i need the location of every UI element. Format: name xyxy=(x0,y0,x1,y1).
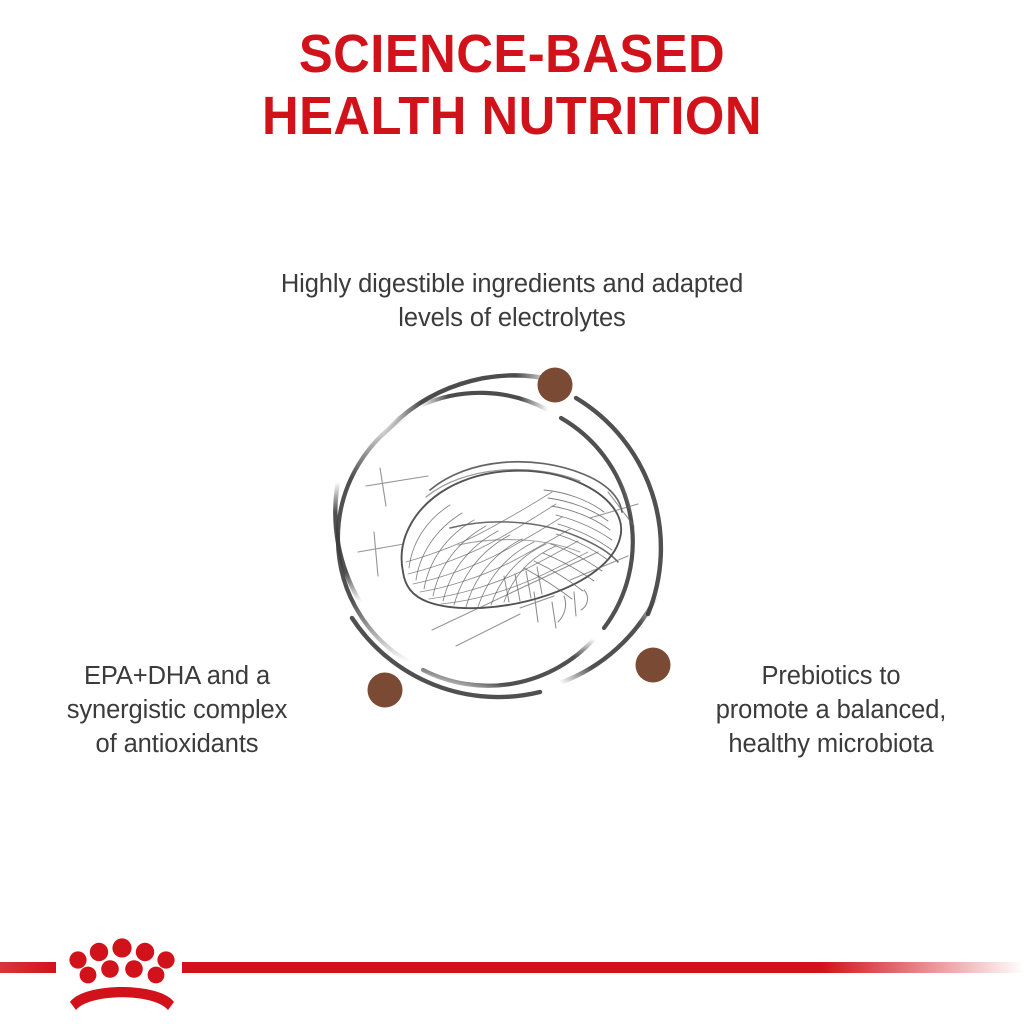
emblem-dot-right xyxy=(636,648,671,683)
benefit-right-line-3: healthy microbiota xyxy=(672,728,990,762)
inner-ring xyxy=(338,393,633,686)
brand-rule-left xyxy=(0,962,56,973)
page-title-line-1: SCIENCE-BASED xyxy=(31,24,994,86)
emblem-dot-bottom-left xyxy=(368,673,403,708)
page-title-line-2: HEALTH NUTRITION xyxy=(31,86,994,148)
benefit-top-line-1: Highly digestible ingredients and adapte… xyxy=(192,268,832,302)
benefit-left-line-2: synergistic complex xyxy=(12,694,342,728)
page-title: SCIENCE-BASED HEALTH NUTRITION xyxy=(31,24,994,147)
benefit-left-line-3: of antioxidants xyxy=(12,728,342,762)
emblem-dot-top xyxy=(538,368,573,403)
benefit-caption-top: Highly digestible ingredients and adapte… xyxy=(192,268,832,336)
benefit-right-line-1: Prebiotics to xyxy=(672,660,990,694)
benefit-top-line-2: levels of electrolytes xyxy=(192,302,832,336)
brand-rule-right xyxy=(182,962,1024,973)
benefit-left-line-1: EPA+DHA and a xyxy=(12,660,342,694)
benefit-caption-left: EPA+DHA and a synergistic complex of ant… xyxy=(12,660,342,762)
royal-canin-crown-icon xyxy=(69,938,174,1010)
benefit-caption-right: Prebiotics to promote a balanced, health… xyxy=(672,660,990,762)
benefit-right-line-2: promote a balanced, xyxy=(672,694,990,728)
brand-footer xyxy=(0,930,1024,1024)
kibble-emblem xyxy=(308,340,708,740)
poster-canvas: SCIENCE-BASED HEALTH NUTRITION Highly di… xyxy=(0,0,1024,1024)
outer-ring xyxy=(335,375,661,697)
kibble-sketch xyxy=(358,462,638,646)
